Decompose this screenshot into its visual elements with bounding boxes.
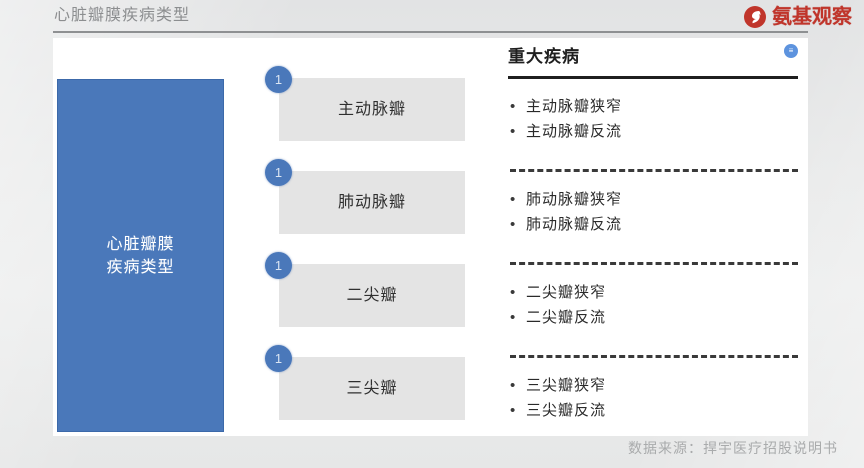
left-category-line1: 心脏瓣膜 xyxy=(106,233,174,256)
disease-group-4: • 三尖瓣狭窄 • 三尖瓣反流 xyxy=(508,373,808,423)
slide-panel: 心脏瓣膜 疾病类型 1 主动脉瓣 1 肺动脉瓣 1 二尖瓣 1 三尖瓣 xyxy=(53,38,808,436)
disease-list-item: • 主动脉瓣狭窄 xyxy=(508,94,808,119)
valve-type-box-2: 肺动脉瓣 xyxy=(279,171,465,234)
bullet-icon: • xyxy=(508,280,526,305)
bullet-icon: • xyxy=(508,187,526,212)
info-badge-icon[interactable]: ≡ xyxy=(784,44,798,58)
bullet-icon: • xyxy=(508,212,526,237)
valve-type-label-1: 主动脉瓣 xyxy=(338,99,406,121)
group-divider-3 xyxy=(510,355,798,358)
bullet-icon: • xyxy=(508,398,526,423)
valve-type-column: 1 主动脉瓣 1 肺动脉瓣 1 二尖瓣 1 三尖瓣 xyxy=(265,66,465,436)
valve-type-label-4: 三尖瓣 xyxy=(346,378,397,400)
brand-logo: 氨基观察 xyxy=(743,4,852,30)
badge-number-4: 1 xyxy=(265,345,292,372)
disease-label-4-2: 三尖瓣反流 xyxy=(526,398,606,423)
disease-group-2: • 肺动脉瓣狭窄 • 肺动脉瓣反流 xyxy=(508,187,808,237)
disease-list-item: • 主动脉瓣反流 xyxy=(508,119,808,144)
disease-list-item: • 肺动脉瓣狭窄 xyxy=(508,187,808,212)
valve-type-label-2: 肺动脉瓣 xyxy=(338,192,406,214)
disease-list-item: • 二尖瓣反流 xyxy=(508,305,808,330)
valve-type-item-4: 1 三尖瓣 xyxy=(265,345,465,429)
amino-observe-logo-icon xyxy=(743,5,767,29)
left-category-line2: 疾病类型 xyxy=(106,256,174,279)
bullet-icon: • xyxy=(508,94,526,119)
disease-list-item: • 二尖瓣狭窄 xyxy=(508,280,808,305)
disease-list-item: • 三尖瓣狭窄 xyxy=(508,373,808,398)
valve-type-item-2: 1 肺动脉瓣 xyxy=(265,159,465,243)
disease-label-2-1: 肺动脉瓣狭窄 xyxy=(526,187,622,212)
disease-group-3: • 二尖瓣狭窄 • 二尖瓣反流 xyxy=(508,280,808,330)
footer-bar: 数据来源：捍宇医疗招股说明书 xyxy=(0,436,864,462)
major-disease-heading: 重大疾病 xyxy=(508,45,580,69)
header-bar: 心脏瓣膜疾病类型 氨基观察 xyxy=(0,0,864,36)
badge-number-1: 1 xyxy=(265,66,292,93)
major-disease-heading-underline xyxy=(508,76,798,79)
left-category-block: 心脏瓣膜 疾病类型 xyxy=(57,79,224,432)
brand-logo-text: 氨基观察 xyxy=(772,5,852,29)
badge-number-2: 1 xyxy=(265,159,292,186)
bullet-icon: • xyxy=(508,373,526,398)
bullet-icon: • xyxy=(508,305,526,330)
disease-label-1-2: 主动脉瓣反流 xyxy=(526,119,622,144)
valve-type-item-3: 1 二尖瓣 xyxy=(265,252,465,336)
data-source-note: 数据来源：捍宇医疗招股说明书 xyxy=(628,438,838,458)
disease-label-3-1: 二尖瓣狭窄 xyxy=(526,280,606,305)
disease-group-1: • 主动脉瓣狭窄 • 主动脉瓣反流 xyxy=(508,94,808,144)
badge-number-3: 1 xyxy=(265,252,292,279)
disease-label-3-2: 二尖瓣反流 xyxy=(526,305,606,330)
header-divider xyxy=(53,31,808,33)
valve-type-item-1: 1 主动脉瓣 xyxy=(265,66,465,150)
valve-type-box-3: 二尖瓣 xyxy=(279,264,465,327)
valve-type-label-3: 二尖瓣 xyxy=(346,285,397,307)
group-divider-2 xyxy=(510,262,798,265)
disease-list-item: • 肺动脉瓣反流 xyxy=(508,212,808,237)
disease-label-2-2: 肺动脉瓣反流 xyxy=(526,212,622,237)
valve-type-box-1: 主动脉瓣 xyxy=(279,78,465,141)
disease-label-4-1: 三尖瓣狭窄 xyxy=(526,373,606,398)
disease-list-item: • 三尖瓣反流 xyxy=(508,398,808,423)
left-category-label: 心脏瓣膜 疾病类型 xyxy=(106,233,174,279)
major-disease-column: 重大疾病 • 主动脉瓣狭窄 • 主动脉瓣反流 • 肺动脉瓣狭窄 • 肺动脉瓣反流 xyxy=(508,45,808,436)
valve-type-box-4: 三尖瓣 xyxy=(279,357,465,420)
info-badge-glyph: ≡ xyxy=(789,47,794,55)
bullet-icon: • xyxy=(508,119,526,144)
disease-label-1-1: 主动脉瓣狭窄 xyxy=(526,94,622,119)
group-divider-1 xyxy=(510,169,798,172)
page-title: 心脏瓣膜疾病类型 xyxy=(54,5,190,27)
